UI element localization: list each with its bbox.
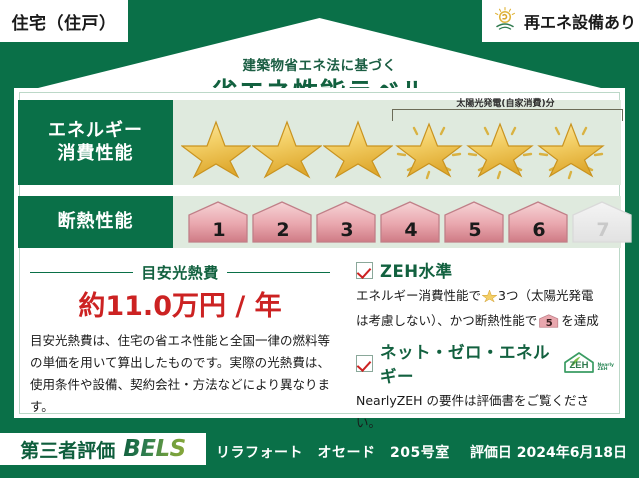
bottom-bar: 第三者評価 BELS リラフォート オセード 205号室 評価日 2024年6月… <box>0 426 639 478</box>
star-6-solar <box>536 114 606 180</box>
zeh-standard-checkbox[interactable] <box>356 262 373 279</box>
insulation-level-1: 1 <box>187 199 251 245</box>
cost-heading-rule-right <box>227 272 330 274</box>
label-header: 建築物省エネ法に基づく 省エネ性能ラベル <box>15 20 624 94</box>
zeh-logo-subtext: Nearly ZEH <box>597 364 614 373</box>
star-rating <box>181 114 606 180</box>
energy-performance-label: エネルギー 消費性能 <box>18 100 173 185</box>
svg-text:ZEH: ZEH <box>570 360 589 371</box>
insulation-level-2-number: 2 <box>251 219 315 241</box>
inline-house-icon: 5 <box>539 313 559 329</box>
cost-value: 約11.0万円 / 年 <box>30 284 330 323</box>
insulation-level-5-number: 5 <box>443 219 507 241</box>
bels-logo: BELS <box>123 436 185 462</box>
zeh-netzero-head: ネット・ゼロ・エネルギー ZEH Nearly ZEH <box>356 339 614 387</box>
cost-heading-row: 目安光熱費 <box>30 262 330 283</box>
star-4-solar <box>394 114 464 180</box>
insulation-performance-row: 断熱性能 1 <box>18 196 621 248</box>
zeh-standard-desc-part3: を達成 <box>561 313 599 328</box>
energy-performance-row: エネルギー 消費性能 太陽光発電(自家消費)分 <box>18 100 621 185</box>
cost-heading-label: 目安光熱費 <box>141 262 219 283</box>
cost-heading-rule-left <box>30 272 133 274</box>
zeh-item-standard: ZEH水準 エネルギー消費性能で3つ（太陽光発電は考慮しない）、かつ断熱性能で5… <box>356 258 614 331</box>
inline-house-level: 5 <box>539 315 559 332</box>
zeh-item-netzero: ネット・ゼロ・エネルギー ZEH Nearly ZEH NearlyZEH の要… <box>356 339 614 433</box>
zeh-standard-head: ZEH水準 <box>356 258 614 282</box>
insulation-level-4: 4 <box>379 199 443 245</box>
insulation-level-6-number: 6 <box>507 219 571 241</box>
insulation-level-7-number: 7 <box>571 219 635 241</box>
insulation-level-5: 5 <box>443 199 507 245</box>
insulation-level-4-number: 4 <box>379 219 443 241</box>
zeh-standard-title: ZEH水準 <box>380 258 453 282</box>
energy-label-line2: 消費性能 <box>58 143 134 166</box>
insulation-label-line1: 断熱性能 <box>58 211 134 234</box>
insulation-level-7: 7 <box>571 199 635 245</box>
zeh-section: ZEH水準 エネルギー消費性能で3つ（太陽光発電は考慮しない）、かつ断熱性能で5… <box>356 258 614 441</box>
solar-bracket-label: 太陽光発電(自家消費)分 <box>373 96 638 109</box>
insulation-level-3-number: 3 <box>315 219 379 241</box>
inline-star-icon <box>482 288 497 310</box>
insulation-performance-label: 断熱性能 <box>18 196 173 248</box>
zeh-standard-desc-stars: 3つ（太陽光発電 <box>498 288 593 303</box>
zeh-logo-sub2: ZEH <box>597 367 607 372</box>
insulation-level-6: 6 <box>507 199 571 245</box>
zeh-netzero-checkbox[interactable] <box>356 355 373 372</box>
third-party-evaluation-label: 第三者評価 <box>20 436 115 463</box>
insulation-levels-area: 1 2 3 4 <box>173 196 621 248</box>
insulation-level-1-number: 1 <box>187 219 251 241</box>
zeh-standard-desc: エネルギー消費性能で3つ（太陽光発電は考慮しない）、かつ断熱性能で5を達成 <box>356 285 614 331</box>
star-2 <box>252 114 322 180</box>
insulation-level-list: 1 2 3 4 <box>187 199 635 245</box>
bels-badge: 第三者評価 BELS <box>0 433 206 465</box>
building-name: リラフォート オセード 205号室 <box>216 442 450 462</box>
insulation-level-2: 2 <box>251 199 315 245</box>
zeh-netzero-title: ネット・ゼロ・エネルギー <box>380 339 551 387</box>
zeh-standard-desc-part2: は考慮しない）、かつ断熱性能で <box>356 313 537 328</box>
zeh-standard-desc-part1: エネルギー消費性能で <box>356 288 481 303</box>
star-3 <box>323 114 393 180</box>
cost-note: 目安光熱費は、住宅の省エネ性能と全国一律の燃料等の単価を用いて算出したものです。… <box>30 330 330 418</box>
star-1 <box>181 114 251 180</box>
evaluation-date: 評価日 2024年6月18日 <box>470 442 627 462</box>
insulation-level-3: 3 <box>315 199 379 245</box>
zeh-house-logo-icon: ZEH Nearly ZEH <box>562 351 614 375</box>
energy-stars-area: 太陽光発電(自家消費)分 <box>173 100 621 185</box>
star-5-solar <box>465 114 535 180</box>
header-subtitle: 建築物省エネ法に基づく <box>15 54 624 74</box>
energy-label-line1: エネルギー <box>48 120 143 143</box>
